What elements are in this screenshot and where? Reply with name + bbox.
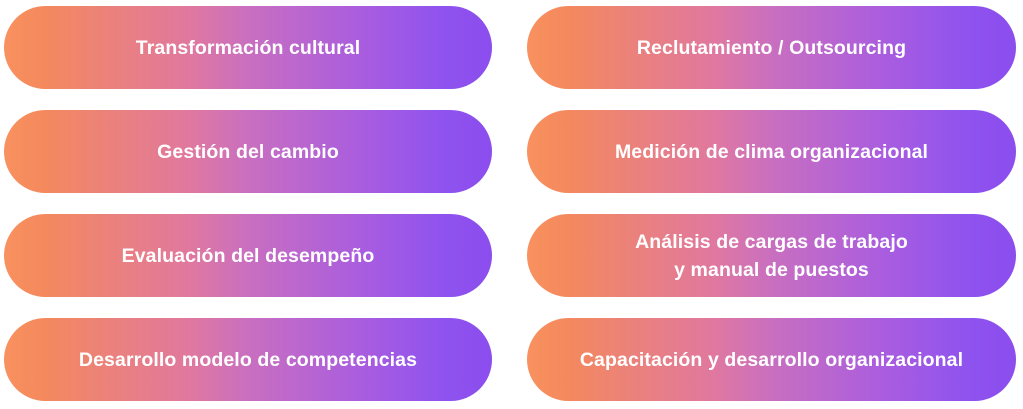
- pill-label: Transformación cultural: [136, 34, 360, 62]
- pill-gestion-del-cambio[interactable]: Gestión del cambio: [4, 110, 492, 193]
- pill-desarrollo-modelo-competencias[interactable]: Desarrollo modelo de competencias: [4, 318, 492, 401]
- pill-label: Medición de clima organizacional: [615, 138, 928, 166]
- pill-evaluacion-del-desempeno[interactable]: Evaluación del desempeño: [4, 214, 492, 297]
- pill-label: Capacitación y desarrollo organizacional: [580, 346, 963, 374]
- services-pill-board: Transformación cultural Reclutamiento / …: [0, 0, 1023, 409]
- pill-grid: Transformación cultural Reclutamiento / …: [0, 0, 1023, 401]
- pill-analisis-cargas-trabajo[interactable]: Análisis de cargas de trabajo y manual d…: [527, 214, 1016, 297]
- pill-label: Análisis de cargas de trabajo y manual d…: [635, 228, 908, 284]
- pill-medicion-clima-organizacional[interactable]: Medición de clima organizacional: [527, 110, 1016, 193]
- pill-reclutamiento-outsourcing[interactable]: Reclutamiento / Outsourcing: [527, 6, 1016, 89]
- pill-label: Evaluación del desempeño: [122, 242, 375, 270]
- pill-label: Reclutamiento / Outsourcing: [637, 34, 906, 62]
- pill-label: Gestión del cambio: [157, 138, 339, 166]
- pill-capacitacion-desarrollo-organizacional[interactable]: Capacitación y desarrollo organizacional: [527, 318, 1016, 401]
- pill-label: Desarrollo modelo de competencias: [79, 346, 417, 374]
- pill-transformacion-cultural[interactable]: Transformación cultural: [4, 6, 492, 89]
